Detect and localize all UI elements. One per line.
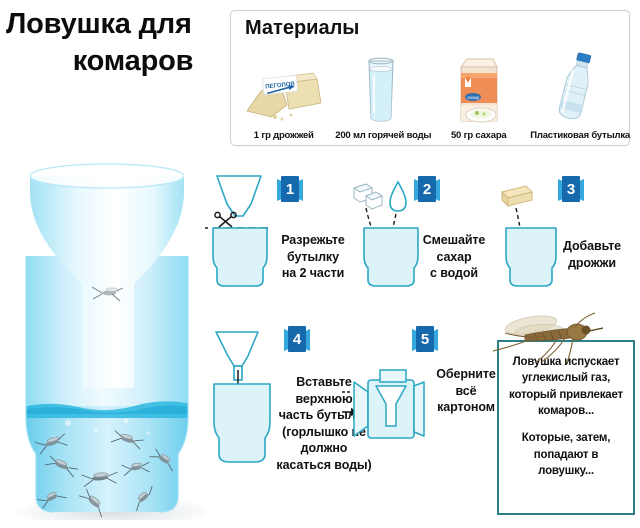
info-paragraph-2: Которые, затем, попадают в ловушку... <box>505 430 627 479</box>
material-item-yeast: ПЕГОПОВ 1 гр дрожжей <box>238 53 330 141</box>
materials-panel: Материалы ПЕГОПОВ <box>230 10 630 146</box>
mosquito-photo-icon <box>487 311 603 367</box>
page-title-line2: комаров <box>6 43 230 80</box>
sugar-carton-icon: сахар <box>433 53 525 125</box>
step-5: 5 Оберните всё картоном <box>340 322 500 462</box>
step-number-badge-5: 5 <box>412 326 438 356</box>
step-5-text: Оберните всё картоном <box>426 366 506 416</box>
step-number-badge-3: 3 <box>558 176 584 206</box>
infographic-root: Ловушка для комаров <box>0 0 640 528</box>
step-3-text: Добавьте дрожжи <box>544 238 640 271</box>
yeast-into-bottle-icon <box>492 170 562 295</box>
badge-number: 2 <box>418 176 436 202</box>
water-glass-icon <box>335 53 427 125</box>
materials-items: ПЕГОПОВ 1 гр дрожжей <box>235 35 625 141</box>
step-number-badge-1: 1 <box>277 176 303 206</box>
material-caption: Пластиковая бутылка <box>530 130 622 141</box>
step-text-line: дрожжи <box>544 255 640 272</box>
material-caption: 200 мл горячей воды <box>335 130 427 141</box>
cardboard-wrap-icon <box>340 356 440 461</box>
material-item-bottle: Пластиковая бутылка <box>530 53 622 141</box>
step-text-line: Добавьте <box>544 238 640 255</box>
page-title: Ловушка для комаров <box>6 6 230 80</box>
step-text-line: Оберните <box>426 366 506 383</box>
badge-number: 5 <box>416 326 434 352</box>
step-text-line: сахар <box>404 249 504 266</box>
step-3: 3 Добавьте дрожжи <box>492 170 640 290</box>
step-2-text: Смешайте сахар с водой <box>404 232 504 282</box>
step-number-badge-4: 4 <box>284 326 310 356</box>
material-item-water: 200 мл горячей воды <box>335 53 427 141</box>
step-text-line: всё <box>426 383 506 400</box>
badge-number: 1 <box>281 176 299 202</box>
step-1: 1 Разрежьте бутылку на 2 части <box>205 170 365 290</box>
material-caption: 50 гр сахара <box>433 130 525 141</box>
mosquito-trap-bottle-illustration <box>8 88 206 520</box>
page-title-line1: Ловушка для <box>6 6 230 43</box>
material-caption: 1 гр дрожжей <box>238 130 330 141</box>
yeast-block-icon: ПЕГОПОВ <box>238 53 330 125</box>
plastic-bottle-icon <box>530 53 622 125</box>
step-number-badge-2: 2 <box>414 176 440 206</box>
svg-text:сахар: сахар <box>467 95 479 100</box>
step-text-line: Смешайте <box>404 232 504 249</box>
material-item-sugar: сахар 50 гр сахара <box>433 53 525 141</box>
badge-number: 3 <box>562 176 580 202</box>
step-2: 2 Смешайте сахар с водой <box>348 170 508 290</box>
step-text-line: картоном <box>426 399 506 416</box>
step-text-line: с водой <box>404 265 504 282</box>
badge-number: 4 <box>288 326 306 352</box>
